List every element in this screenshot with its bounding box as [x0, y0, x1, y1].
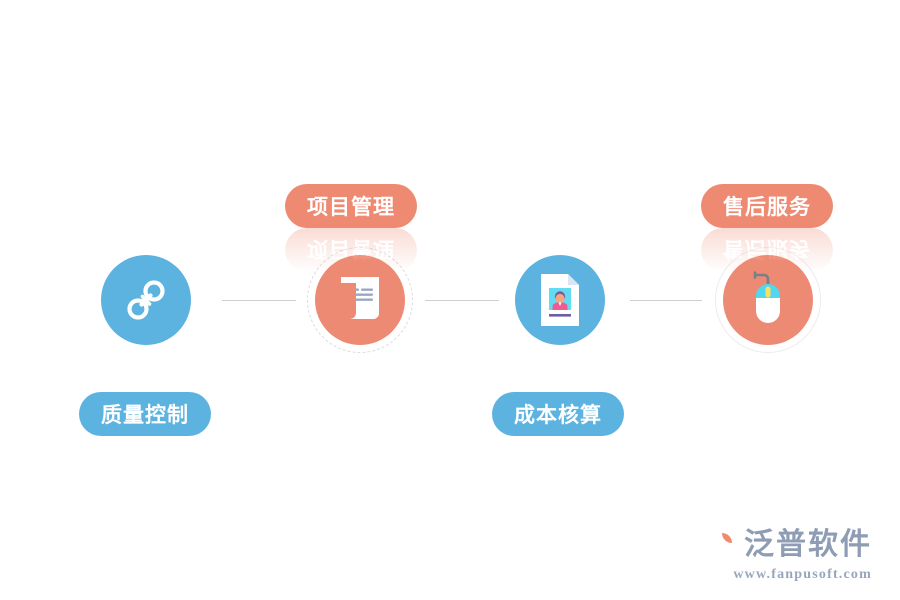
connector-line-2	[425, 300, 499, 301]
node-disc-after-sales-service[interactable]	[723, 255, 813, 345]
brand-watermark: 泛普软件 www.fanpusoft.com	[705, 527, 872, 582]
flow-node-project-management[interactable]	[315, 255, 405, 345]
node-disc-project-management[interactable]	[315, 255, 405, 345]
connector-line-1	[222, 300, 296, 301]
id-card-document-icon	[537, 272, 583, 328]
node-disc-cost-accounting[interactable]	[515, 255, 605, 345]
flow-node-after-sales-service[interactable]	[723, 255, 813, 345]
node-label-after-sales-service[interactable]: 售后服务	[701, 184, 833, 228]
node-label-cost-accounting[interactable]: 成本核算	[492, 392, 624, 436]
node-label-project-management[interactable]: 项目管理	[285, 184, 417, 228]
brand-url: www.fanpusoft.com	[705, 568, 872, 582]
node-disc-quality-control[interactable]	[101, 255, 191, 345]
diagram-canvas: 质量控制 项目管理 项目管理 成本核算 售后服务 售后服务 泛普软件 www.f…	[0, 0, 900, 600]
scroll-document-icon	[335, 273, 385, 327]
computer-mouse-icon	[745, 271, 791, 329]
connector-line-3	[630, 300, 702, 301]
flow-node-cost-accounting[interactable]	[515, 255, 605, 345]
fanpu-swoosh-logo-icon	[705, 527, 739, 563]
node-label-quality-control[interactable]: 质量控制	[79, 392, 211, 436]
brand-name: 泛普软件	[744, 530, 872, 560]
flow-node-quality-control[interactable]	[101, 255, 191, 345]
chain-link-icon	[122, 276, 170, 324]
